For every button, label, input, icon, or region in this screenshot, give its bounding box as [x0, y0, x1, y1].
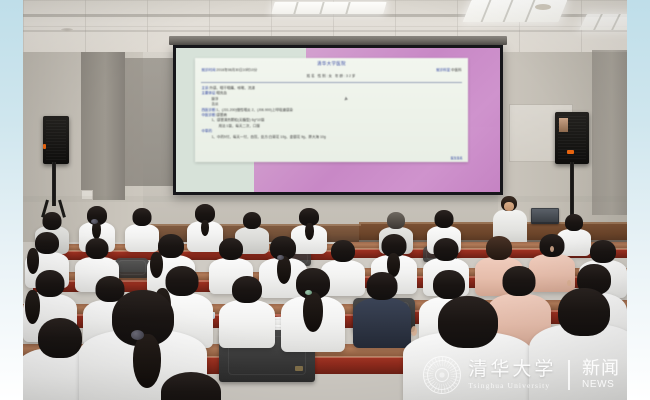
loudspeaker-right: [551, 112, 595, 222]
department-label: 就诊科室:: [436, 68, 451, 72]
screen-roller-housing: [169, 36, 507, 45]
presenter-face: [504, 202, 514, 211]
slide-line-text: 外感、咽干咽痛、咳嗽、流涕: [209, 86, 255, 90]
room-photo: 清华大学医院 就诊时间:2016年08月30日10时10分 就诊科室:中医科 姓…: [23, 0, 628, 400]
audience-member-foreground: [529, 288, 628, 400]
speaker-cabinet: [43, 116, 69, 164]
right-border-gradient: [627, 0, 650, 400]
loudspeaker-left: [37, 116, 71, 220]
slide-line-text: 1、中药5付，每天一付，自煎，处方:白菊花 10g、金银花 9g、胖大海 10g: [211, 135, 325, 139]
slide-meta-row: 就诊时间:2016年08月30日10时10分 就诊科室:中医科: [201, 68, 461, 72]
audience-member: [281, 268, 345, 352]
slide-divider: [201, 82, 461, 83]
slide-content-card: 清华大学医院 就诊时间:2016年08月30日10时10分 就诊科室:中医科 姓…: [195, 58, 467, 162]
ceiling-panel-light: [579, 14, 628, 30]
ceiling-panel-light: [463, 0, 568, 22]
chair: [115, 258, 149, 278]
slide-meta-right: 就诊科室:中医科: [436, 68, 461, 72]
slide-body: 主诉:外感、咽干咽痛、咳嗽、流涕 主要体征:咽充血 脉浮 舌淡 西医诊断:1、(…: [201, 86, 461, 140]
screen-frame: 清华大学医院 就诊时间:2016年08月30日10时10分 就诊科室:中医科 姓…: [173, 45, 503, 195]
slide-patient-meta: 姓名 性别:女 年龄:32岁: [201, 74, 461, 79]
slide-line-key: 主要体征:: [201, 91, 216, 95]
slide-line-text: 舌淡: [211, 102, 218, 106]
slide-line-text: 用法:1袋，每天二次，口服: [218, 124, 259, 128]
speaker-horn: [559, 118, 568, 132]
slide-line-key: 中草药:: [201, 129, 212, 133]
slide-line-text: 脉浮: [211, 97, 218, 101]
slide-line-text: 1、(J31.200)慢性咽炎 2、(J06.900)上呼吸道感染: [216, 108, 292, 112]
wall-trim-band: [23, 196, 628, 202]
wall-pillar-left: [81, 52, 125, 200]
slide-line: 1、中药5付，每天一付，自煎，处方:白菊花 10g、金银花 9g、胖大海 10g: [201, 135, 461, 140]
slide-signature: 医生签名: [451, 156, 463, 160]
ceiling-beam: [23, 30, 628, 32]
audience-member: [219, 276, 275, 348]
screen-surface: 清华大学医院 就诊时间:2016年08月30日10时10分 就诊科室:中医科 姓…: [176, 48, 500, 192]
visit-time-label: 就诊时间:: [201, 68, 216, 72]
visit-time-value: 2016年08月30日10时10分: [216, 68, 257, 72]
slide-line-text: 感冒病: [216, 113, 227, 117]
slide-line-key: 西医诊断:: [201, 108, 216, 112]
department-value: 中医科: [451, 68, 462, 72]
projection-screen: 清华大学医院 就诊时间:2016年08月30日10时10分 就诊科室:中医科 姓…: [173, 44, 503, 194]
laptop-screen: [532, 209, 558, 222]
photograph-lecture-hall: 清华大学医院 就诊时间:2016年08月30日10时10分 就诊科室:中医科 姓…: [0, 0, 650, 400]
ponytail: [201, 220, 209, 236]
ceiling-panel-light: [271, 2, 386, 14]
speaker-stand-pole: [52, 162, 56, 206]
slide-line-text: 1、感冒清热颗粒(无糖型) 6g*10袋: [211, 118, 264, 122]
hair-scrunchie: [131, 330, 144, 340]
jbl-logo-icon: [567, 150, 574, 154]
left-border-gradient: [0, 0, 23, 400]
slide-line-text: 咽充血: [216, 91, 227, 95]
wall-pillar-right: [592, 50, 628, 215]
ponytail: [303, 292, 323, 332]
wall-dark-panel-left: [125, 58, 177, 186]
ceiling-vent: [535, 4, 551, 10]
slide-meta-left: 就诊时间:2016年08月30日10时10分: [201, 68, 257, 72]
slide-line-key: 中医诊断:: [201, 113, 216, 117]
slide-title: 清华大学医院: [201, 62, 461, 66]
ceiling-downlight: [61, 28, 73, 32]
laptop: [531, 208, 559, 224]
audience-member-foreground: [143, 372, 239, 400]
audience-member-foreground: [403, 296, 533, 400]
jbl-logo-icon: [43, 144, 46, 149]
speaker-stand-pole: [570, 162, 574, 218]
